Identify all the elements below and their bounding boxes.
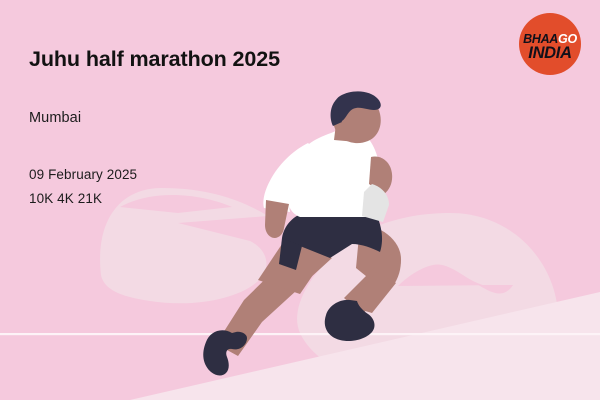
bhaago-india-logo[interactable]: BHAAGO INDIA xyxy=(519,13,581,75)
event-text-block: Juhu half marathon 2025 xyxy=(29,47,359,72)
logo-line-two: INDIA xyxy=(519,45,581,62)
event-distances: 10K 4K 21K xyxy=(29,191,102,206)
runner-back-shoe xyxy=(203,330,247,375)
event-date: 09 February 2025 xyxy=(29,167,137,182)
page-title: Juhu half marathon 2025 xyxy=(29,47,359,72)
event-city: Mumbai xyxy=(29,110,81,126)
event-promo-card: Juhu half marathon 2025 Mumbai 09 Februa… xyxy=(0,0,600,400)
